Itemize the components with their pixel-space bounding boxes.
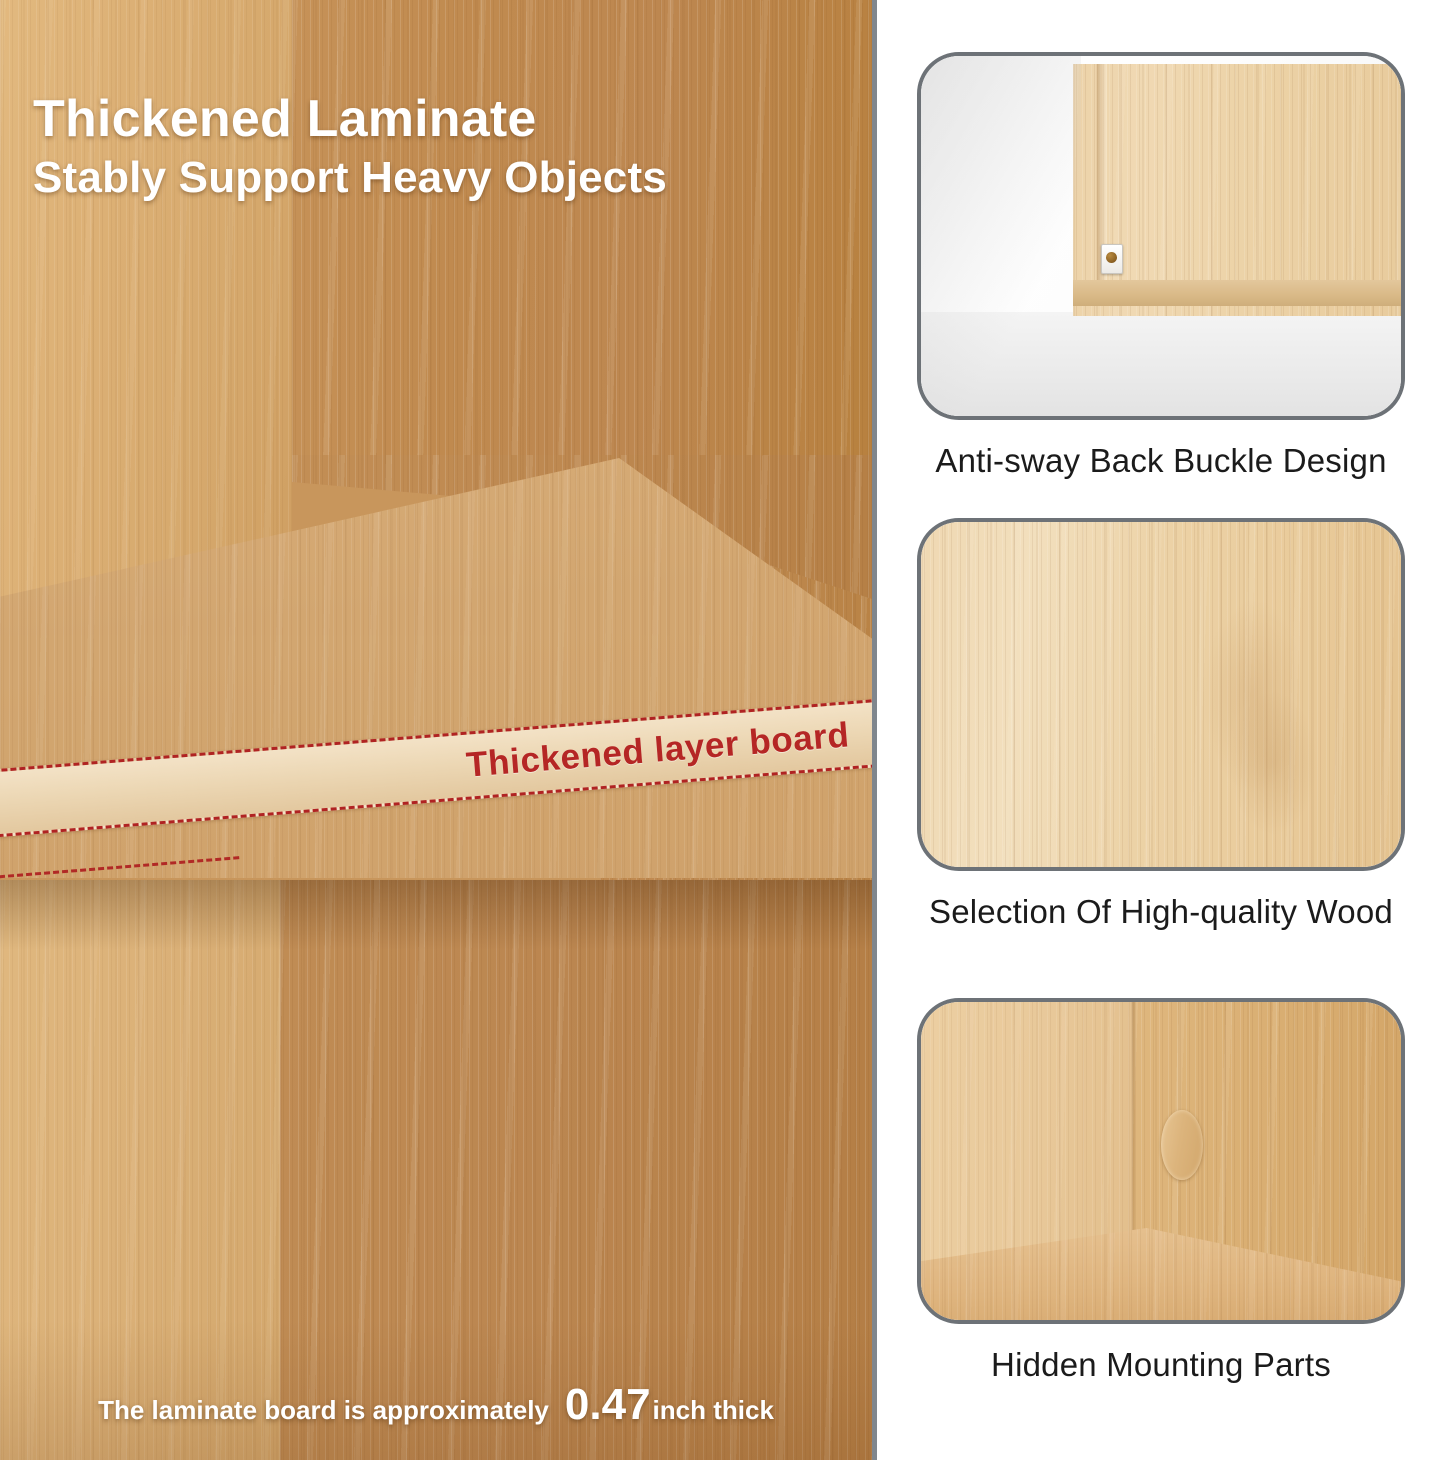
feature-caption-3: Hidden Mounting Parts (877, 1346, 1445, 1384)
wall-shadow (921, 56, 1081, 416)
dowel-cover-cap-icon (1161, 1110, 1203, 1180)
thickness-caption-prefix: The laminate board is approximately (98, 1395, 549, 1426)
feature-thumbnail-1 (917, 52, 1405, 420)
feature-caption-1: Anti-sway Back Buckle Design (877, 442, 1445, 480)
feature-anti-sway-back-buckle: Anti-sway Back Buckle Design (877, 52, 1445, 480)
wood-grain-swatch-icon (921, 522, 1401, 867)
cabinet-back-panel-upper (292, 0, 872, 470)
product-feature-graphic: Thickened layer board Thickened Laminate… (0, 0, 1445, 1460)
board-bottom-edge (1073, 280, 1405, 306)
hero-headline: Thickened Laminate Stably Support Heavy … (33, 92, 863, 202)
headline-line-2: Stably Support Heavy Objects (33, 153, 863, 202)
feature-thumbnail-2 (917, 518, 1405, 871)
feature-column: Anti-sway Back Buckle Design Selection O… (877, 0, 1445, 1460)
thickness-caption-value: 0.47 (549, 1380, 653, 1430)
feature-caption-2: Selection Of High-quality Wood (877, 893, 1445, 931)
thickness-caption: The laminate board is approximately 0.47… (0, 1380, 872, 1430)
screw-icon (1106, 252, 1117, 263)
feature-hidden-mounting-parts: Hidden Mounting Parts (877, 998, 1445, 1384)
feature-high-quality-wood: Selection Of High-quality Wood (877, 518, 1445, 931)
cabinet-back-board (1073, 64, 1405, 316)
cavity-shadow (0, 880, 872, 950)
feature-thumbnail-3 (917, 998, 1405, 1324)
headline-line-1: Thickened Laminate (33, 92, 863, 147)
hero-shelf-photo: Thickened layer board Thickened Laminate… (0, 0, 872, 1460)
thickness-caption-suffix: inch thick (653, 1395, 774, 1426)
wood-knot-highlight-secondary (1228, 688, 1318, 838)
